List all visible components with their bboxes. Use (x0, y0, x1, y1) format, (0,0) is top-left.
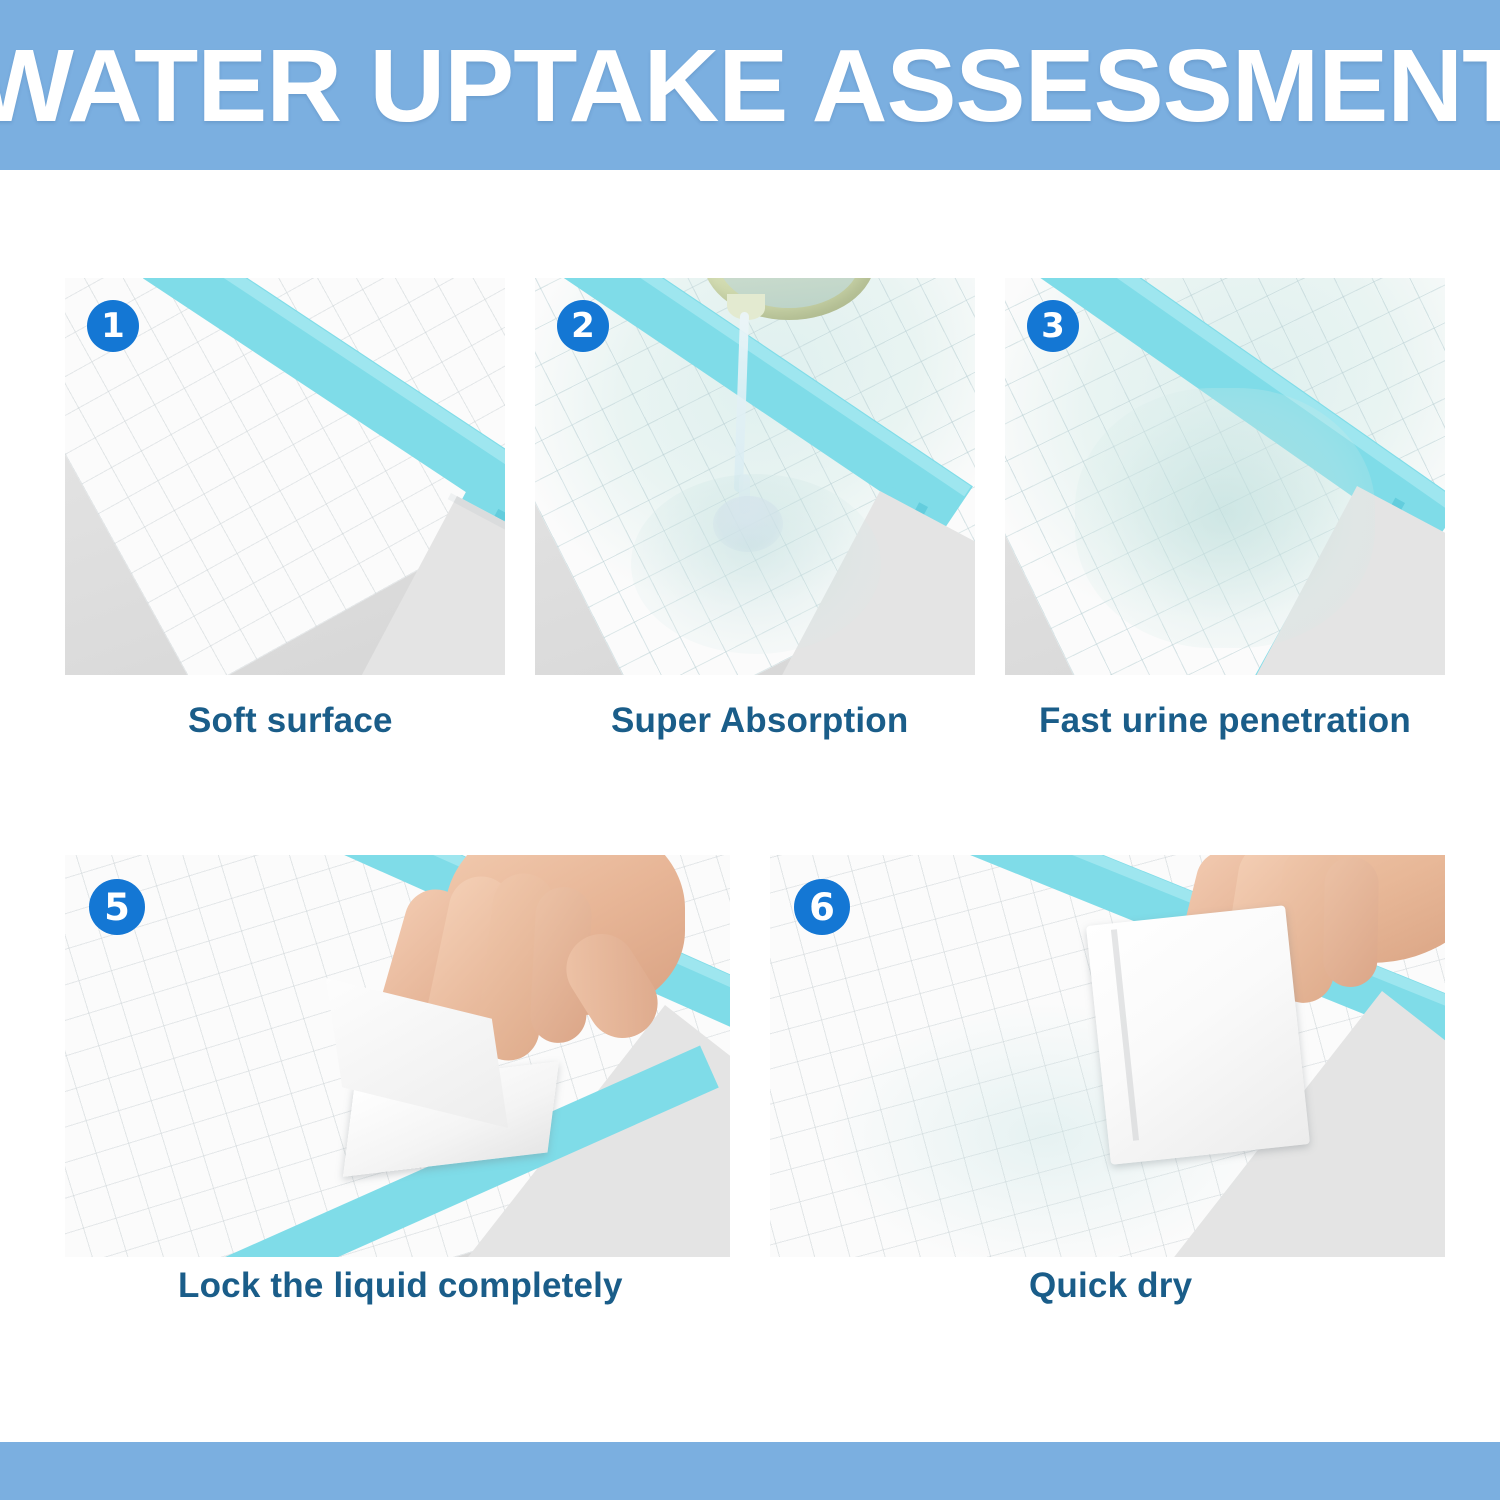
step-image-6: 6 (770, 855, 1445, 1257)
step-badge-3: 3 (1027, 300, 1079, 352)
footer-bar (0, 1442, 1500, 1500)
scene-quick-dry (770, 855, 1445, 1257)
wet-spread-area (631, 474, 881, 654)
scene-lock-the-liquid (65, 855, 730, 1257)
step-caption-6: Quick dry (1029, 1268, 1192, 1303)
step-caption-2: Super Absorption (611, 703, 908, 738)
step-image-1: 1 (65, 278, 505, 675)
step-badge-6: 6 (794, 879, 850, 935)
step-caption-5: Lock the liquid completely (178, 1268, 623, 1303)
page-title: WATER UPTAKE ASSESSMENT (0, 0, 1500, 170)
step-image-2: 2 (535, 278, 975, 675)
step-caption-3: Fast urine penetration (1039, 703, 1411, 738)
penetrated-wet-area (1075, 388, 1375, 648)
step-badge-1: 1 (87, 300, 139, 352)
step-badge-2: 2 (557, 300, 609, 352)
step-caption-1: Soft surface (188, 703, 393, 738)
step-image-5: 5 (65, 855, 730, 1257)
finger-little (1323, 857, 1379, 988)
step-badge-5: 5 (89, 879, 145, 935)
dry-tissue (1086, 905, 1310, 1165)
step-image-3: 3 (1005, 278, 1445, 675)
